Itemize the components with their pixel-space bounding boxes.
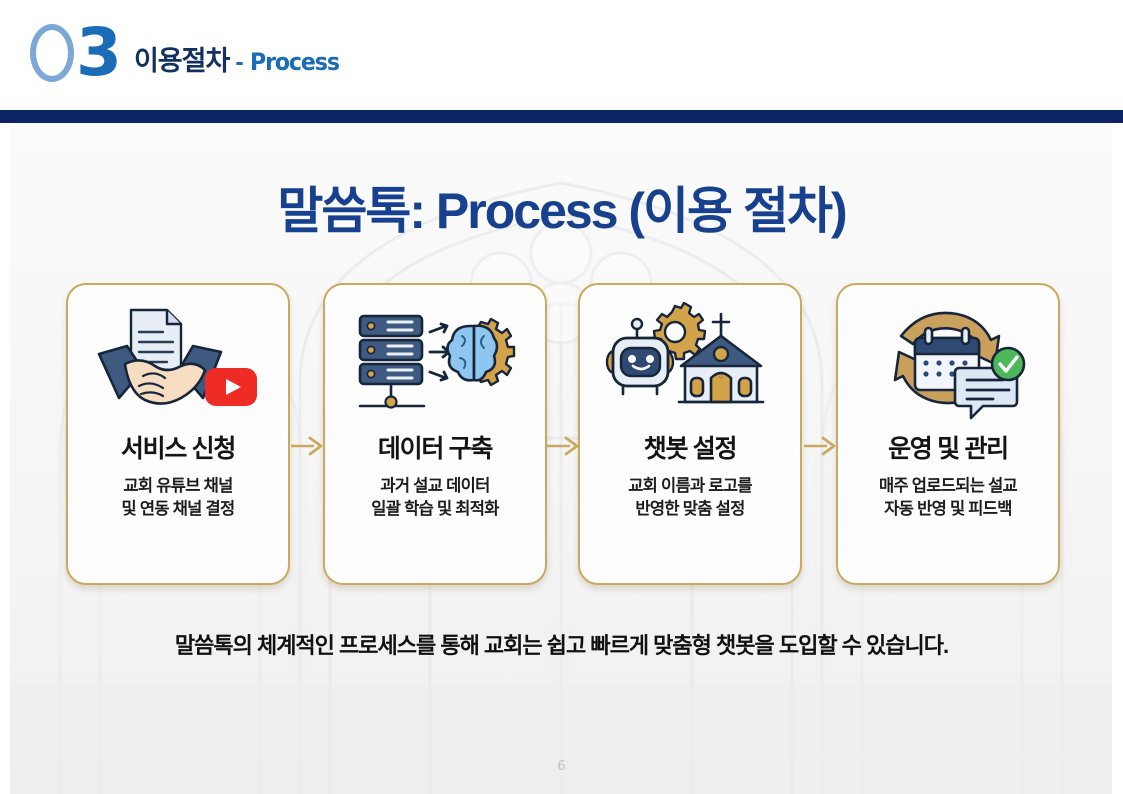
process-card-description: 과거 설교 데이터 일괄 학습 및 최적화: [371, 475, 499, 522]
process-card-operation-management[interactable]: 운영 및 관리 매주 업로드되는 설교 자동 반영 및 피드백: [836, 283, 1060, 585]
header-title-english: Process: [250, 48, 339, 76]
process-card-title: 데이터 구축: [378, 429, 492, 465]
header-content: 3 이용절차 - Process: [30, 20, 346, 86]
slide-body: 말씀톡: Process (이용 절차): [0, 123, 1123, 794]
process-card-desc-line2: 일괄 학습 및 최적화: [371, 498, 499, 521]
process-card-description: 매주 업로드되는 설교 자동 반영 및 피드백: [879, 475, 1017, 522]
process-cards-row: 서비스 신청 교회 유튜브 채널 및 연동 채널 결정: [0, 283, 1123, 588]
process-card-data-build[interactable]: 데이터 구축 과거 설교 데이터 일괄 학습 및 최적화: [323, 283, 547, 585]
robot-gear-church-icon: [580, 299, 800, 427]
process-card-desc-line2: 및 연동 채널 결정: [121, 498, 234, 521]
slide-header: 3 이용절차 - Process: [0, 0, 1123, 112]
process-card-description: 교회 이름과 로고를 반영한 맞춤 설정: [628, 475, 752, 522]
process-card-desc-line2: 반영한 맞춤 설정: [628, 498, 752, 521]
process-card-description: 교회 유튜브 채널 및 연동 채널 결정: [121, 475, 234, 522]
section-number-digit: 3: [76, 20, 120, 86]
header-title-dash: -: [235, 48, 243, 77]
header-title-group: 이용절차 - Process: [134, 39, 346, 86]
process-arrow-1: [290, 435, 324, 457]
process-card-service-application[interactable]: 서비스 신청 교회 유튜브 채널 및 연동 채널 결정: [66, 283, 290, 585]
slide-title: 말씀톡: Process (이용 절차): [0, 171, 1123, 243]
server-brain-gear-icon: [325, 299, 545, 427]
process-card-desc-line1: 과거 설교 데이터: [371, 475, 499, 498]
process-arrow-3: [803, 435, 837, 457]
header-title-korean: 이용절차: [134, 39, 229, 78]
process-card-desc-line2: 자동 반영 및 피드백: [879, 498, 1017, 521]
refresh-calendar-chat-check-icon: [838, 299, 1058, 427]
process-card-title: 챗봇 설정: [644, 429, 736, 465]
slide-caption: 말씀톡의 체계적인 프로세스를 통해 교회는 쉽고 빠르게 맞춤형 챗봇을 도입…: [0, 628, 1123, 660]
process-arrow-2: [546, 435, 580, 457]
handshake-document-youtube-icon: [68, 299, 288, 427]
process-card-desc-line1: 교회 이름과 로고를: [628, 475, 752, 498]
process-card-title: 서비스 신청: [121, 429, 235, 465]
header-navy-bar: [0, 110, 1123, 123]
process-card-desc-line1: 매주 업로드되는 설교: [879, 475, 1017, 498]
process-card-chatbot-setup[interactable]: 챗봇 설정 교회 이름과 로고를 반영한 맞춤 설정: [578, 283, 802, 585]
page-number: 6: [0, 759, 1123, 774]
process-card-title: 운영 및 관리: [888, 429, 1008, 465]
section-number-zero-ring: [30, 24, 74, 82]
process-card-desc-line1: 교회 유튜브 채널: [121, 475, 234, 498]
slide-root: 말씀톡: Process (이용 절차): [0, 0, 1123, 794]
section-number: 3: [30, 20, 120, 86]
